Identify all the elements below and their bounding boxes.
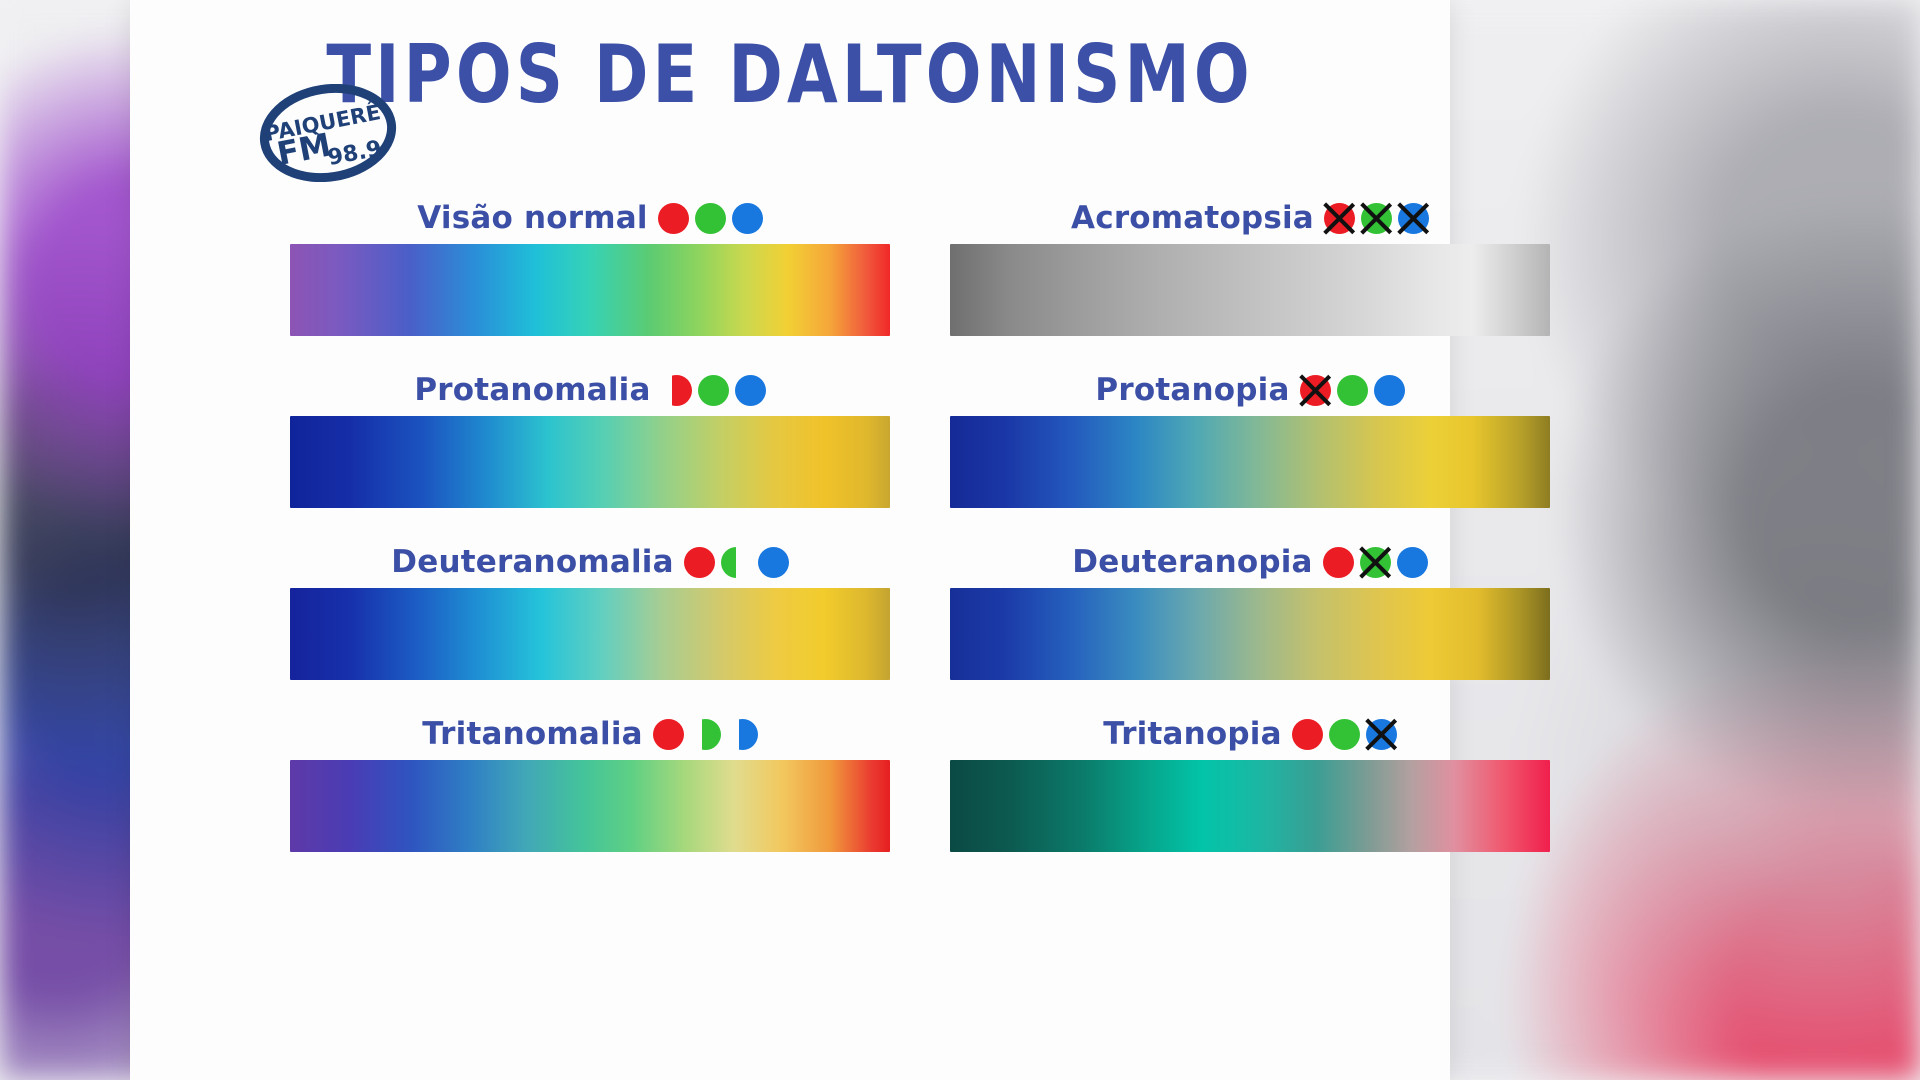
green-cone-full-icon bbox=[1337, 375, 1368, 406]
red-cone-full-icon bbox=[1292, 719, 1323, 750]
vision-type-label: Deuteranopia bbox=[1072, 544, 1312, 580]
red-cone-full-icon bbox=[658, 203, 689, 234]
cross-out-icon bbox=[1395, 200, 1432, 237]
blue-cone-crossed-icon bbox=[1366, 719, 1397, 750]
vision-type-panel: Tritanopia bbox=[950, 708, 1550, 880]
cross-out-icon bbox=[1321, 200, 1358, 237]
color-spectrum-bar bbox=[950, 588, 1550, 680]
vision-type-panel: Tritanomalia bbox=[290, 708, 890, 880]
svg-text:98.9: 98.9 bbox=[326, 136, 384, 171]
blue-cone-half-left-icon bbox=[727, 719, 758, 750]
green-cone-full-icon bbox=[1329, 719, 1360, 750]
vision-type-label: Tritanopia bbox=[1103, 716, 1282, 752]
green-cone-half-left-icon bbox=[690, 719, 721, 750]
red-cone-crossed-icon bbox=[1324, 203, 1355, 234]
vision-type-panel: Protanomalia bbox=[290, 364, 890, 536]
vision-type-label: Protanopia bbox=[1095, 372, 1289, 408]
vision-type-label: Deuteranomalia bbox=[391, 544, 673, 580]
vision-type-panel: Deuteranomalia bbox=[290, 536, 890, 708]
panel-header: Visão normal bbox=[290, 192, 890, 244]
panel-header: Acromatopsia bbox=[950, 192, 1550, 244]
panel-header: Protanomalia bbox=[290, 364, 890, 416]
blue-cone-full-icon bbox=[1397, 547, 1428, 578]
red-cone-crossed-icon bbox=[1300, 375, 1331, 406]
blue-cone-crossed-icon bbox=[1398, 203, 1429, 234]
panel-header: Deuteranopia bbox=[950, 536, 1550, 588]
cone-indicator-group bbox=[1323, 547, 1428, 578]
cone-indicator-group bbox=[684, 547, 789, 578]
green-cone-crossed-icon bbox=[1361, 203, 1392, 234]
station-logo: PAIQUERÊ FM 98.9 bbox=[258, 84, 398, 182]
cone-indicator-group bbox=[1300, 375, 1405, 406]
red-cone-full-icon bbox=[1323, 547, 1354, 578]
cross-out-icon bbox=[1358, 200, 1395, 237]
vision-type-label: Visão normal bbox=[417, 200, 647, 236]
blue-cone-full-icon bbox=[735, 375, 766, 406]
color-spectrum-bar bbox=[950, 244, 1550, 336]
vision-type-label: Tritanomalia bbox=[422, 716, 643, 752]
vision-type-label: Protanomalia bbox=[414, 372, 650, 408]
color-spectrum-bar bbox=[290, 416, 890, 508]
cone-indicator-group bbox=[658, 203, 763, 234]
panel-header: Tritanomalia bbox=[290, 708, 890, 760]
red-cone-full-icon bbox=[653, 719, 684, 750]
blue-cone-full-icon bbox=[758, 547, 789, 578]
page-title: TIPOS DE DALTONISMO bbox=[249, 28, 1331, 121]
cross-out-icon bbox=[1297, 372, 1334, 409]
green-cone-half-icon bbox=[721, 547, 752, 578]
vision-type-panel: Deuteranopia bbox=[950, 536, 1550, 708]
vision-type-label: Acromatopsia bbox=[1071, 200, 1314, 236]
vision-type-panel: Protanopia bbox=[950, 364, 1550, 536]
cone-indicator-group bbox=[1292, 719, 1397, 750]
color-spectrum-bar bbox=[290, 588, 890, 680]
green-cone-full-icon bbox=[698, 375, 729, 406]
cone-indicator-group bbox=[661, 375, 766, 406]
vision-type-panel: Visão normal bbox=[290, 192, 890, 364]
color-spectrum-bar bbox=[950, 416, 1550, 508]
vision-type-panel: Acromatopsia bbox=[950, 192, 1550, 364]
cone-indicator-group bbox=[1324, 203, 1429, 234]
green-cone-crossed-icon bbox=[1360, 547, 1391, 578]
panel-header: Protanopia bbox=[950, 364, 1550, 416]
blue-cone-full-icon bbox=[732, 203, 763, 234]
panel-header: Deuteranomalia bbox=[290, 536, 890, 588]
color-spectrum-bar bbox=[290, 760, 890, 852]
red-cone-half-left-icon bbox=[661, 375, 692, 406]
panel-header: Tritanopia bbox=[950, 708, 1550, 760]
cone-indicator-group bbox=[653, 719, 758, 750]
blue-cone-full-icon bbox=[1374, 375, 1405, 406]
color-spectrum-bar bbox=[290, 244, 890, 336]
cross-out-icon bbox=[1363, 716, 1400, 753]
green-cone-full-icon bbox=[695, 203, 726, 234]
red-cone-full-icon bbox=[684, 547, 715, 578]
cross-out-icon bbox=[1357, 544, 1394, 581]
daltonism-panel-grid: Visão normalAcromatopsiaProtanomaliaProt… bbox=[290, 192, 1550, 880]
color-spectrum-bar bbox=[950, 760, 1550, 852]
infographic-card: TIPOS DE DALTONISMO PAIQUERÊ FM 98.9 Vis… bbox=[130, 0, 1450, 1080]
